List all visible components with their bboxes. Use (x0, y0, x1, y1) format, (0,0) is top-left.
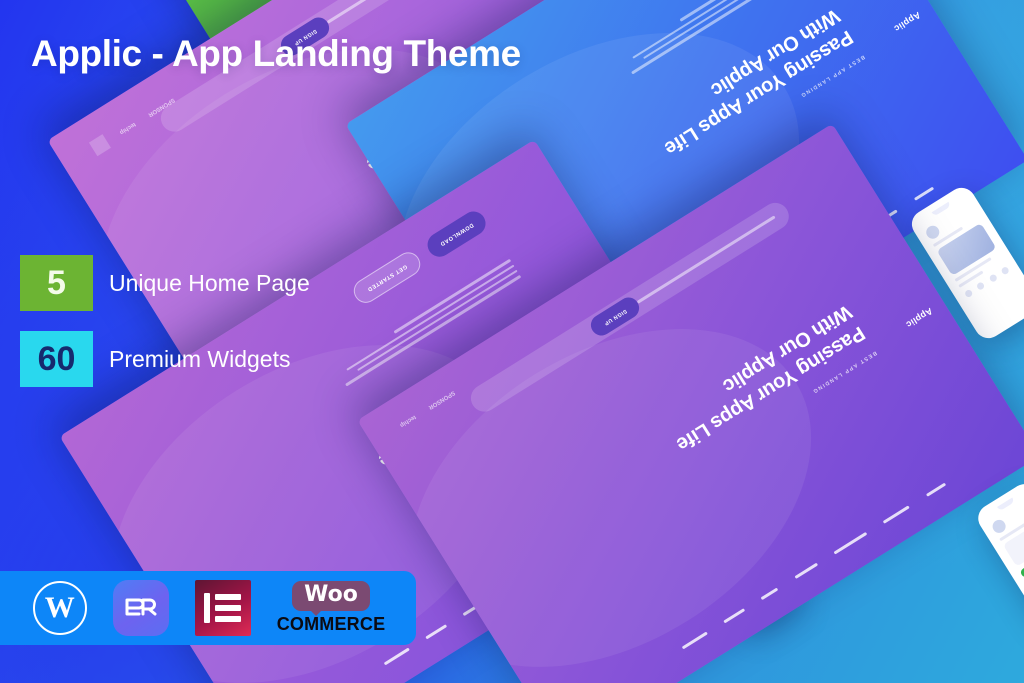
phone-notch (932, 202, 951, 217)
woocommerce-icon: Woo COMMERCE (277, 581, 386, 634)
elementor-icon (195, 580, 251, 636)
page-title: Applic - App Landing Theme (31, 33, 521, 75)
compatibility-logo-bar: W Woo COMMERCE (0, 571, 416, 645)
phone-avatar (924, 223, 942, 241)
commerce-wordmark: COMMERCE (277, 614, 386, 635)
stat-number-badge: 5 (20, 255, 93, 311)
wordpress-icon: W (33, 581, 87, 635)
get-started-button[interactable]: GET STARTED (350, 248, 425, 307)
partner-label-techip: techip (398, 413, 416, 427)
email-input[interactable] (327, 0, 466, 24)
stat-number-badge: 60 (20, 331, 93, 387)
stat-label: Unique Home Page (109, 270, 310, 297)
mockup-brand: Applic (892, 10, 922, 34)
phone-avatar (990, 517, 1008, 535)
er-monogram-icon (123, 595, 159, 621)
elementor-logo (195, 580, 251, 636)
phone-image (937, 223, 997, 276)
partner-label-sponsor: SPONSOR (427, 389, 456, 410)
elementor-bar (204, 593, 210, 623)
elementor-stack (215, 594, 241, 622)
stat-item-widgets: 60 Premium Widgets (20, 331, 310, 387)
partner-label-techip: techip (118, 120, 136, 134)
elementor-redux-logo (113, 580, 169, 636)
partner-logos: SPONSOR techip (398, 389, 455, 428)
stat-label: Premium Widgets (109, 346, 290, 373)
wordpress-logo: W (33, 581, 87, 635)
elementor-redux-icon (113, 580, 169, 636)
download-button[interactable]: DOWNLOAD (423, 207, 490, 261)
phone-notch (997, 497, 1015, 511)
woo-wordmark: Woo (292, 581, 370, 610)
mockup-brand: Applic (904, 306, 934, 330)
partner-square-icon (88, 134, 110, 156)
feature-stats: 5 Unique Home Page 60 Premium Widgets (20, 255, 310, 407)
phone-mockup-purple-2 (973, 479, 1024, 629)
woocommerce-logo: Woo COMMERCE (277, 581, 386, 634)
stat-item-home-pages: 5 Unique Home Page (20, 255, 310, 311)
